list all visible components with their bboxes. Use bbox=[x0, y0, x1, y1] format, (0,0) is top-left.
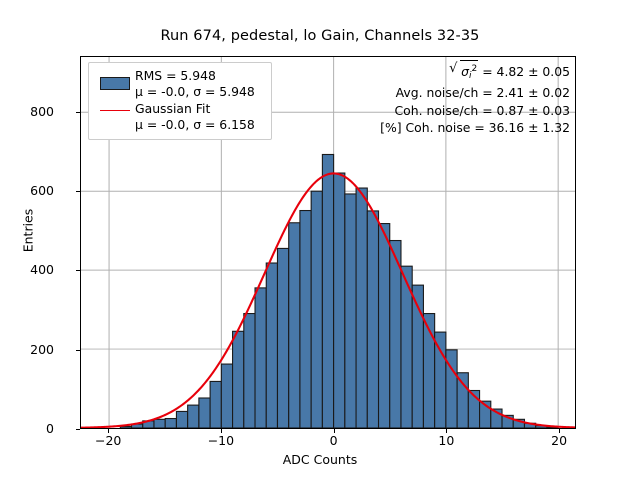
x-tick-mark bbox=[108, 429, 109, 433]
histogram-bar bbox=[154, 419, 165, 428]
page-title: Run 674, pedestal, lo Gain, Channels 32-… bbox=[0, 28, 640, 44]
legend-label-histogram: RMS = 5.948 μ = -0.0, σ = 5.948 bbox=[135, 68, 255, 99]
legend-swatch-histogram bbox=[95, 68, 135, 90]
legend-item-fit[interactable]: Gaussian Fit μ = -0.0, σ = 6.158 bbox=[95, 101, 265, 132]
x-tick-mark bbox=[221, 429, 222, 433]
histogram-bar bbox=[221, 364, 232, 428]
x-tick-label: 10 bbox=[416, 433, 476, 448]
legend-fit-line1: Gaussian Fit bbox=[135, 101, 255, 117]
x-tick-mark bbox=[559, 429, 560, 433]
histogram-bar bbox=[244, 314, 255, 428]
stats-annotation: √ σi2 = 4.82 ± 0.05 Avg. noise/ch = 2.41… bbox=[380, 60, 570, 137]
y-axis-label: Entries bbox=[21, 161, 36, 301]
radicand-sigma-i-squared: σi2 bbox=[460, 60, 478, 84]
y-tick-mark bbox=[76, 429, 80, 430]
histogram-bar bbox=[165, 419, 176, 428]
histogram-bar bbox=[379, 224, 390, 428]
legend-histogram-line2: μ = -0.0, σ = 5.948 bbox=[135, 84, 255, 100]
histogram-bar bbox=[188, 405, 199, 428]
histogram-bar bbox=[176, 411, 187, 428]
y-tick-mark bbox=[76, 270, 80, 271]
histogram-bar bbox=[390, 241, 401, 428]
y-tick-label: 200 bbox=[0, 342, 54, 357]
histogram-bar bbox=[322, 154, 333, 428]
histogram-bar bbox=[277, 248, 288, 428]
x-tick-mark bbox=[446, 429, 447, 433]
legend-label-fit: Gaussian Fit μ = -0.0, σ = 6.158 bbox=[135, 101, 255, 132]
annotation-line-avg-noise: Avg. noise/ch = 2.41 ± 0.02 bbox=[380, 84, 570, 102]
legend-histogram-line1: RMS = 5.948 bbox=[135, 68, 255, 84]
histogram-bar bbox=[300, 211, 311, 428]
chart-legend: RMS = 5.948 μ = -0.0, σ = 5.948 Gaussian… bbox=[88, 62, 272, 140]
histogram-bar bbox=[435, 332, 446, 428]
histogram-bar bbox=[289, 223, 300, 428]
y-tick-label: 400 bbox=[0, 262, 54, 277]
y-tick-mark bbox=[76, 350, 80, 351]
y-tick-label: 0 bbox=[0, 421, 54, 436]
x-tick-label: −10 bbox=[191, 433, 251, 448]
x-tick-label: 0 bbox=[304, 433, 364, 448]
legend-item-histogram[interactable]: RMS = 5.948 μ = -0.0, σ = 5.948 bbox=[95, 68, 265, 99]
x-axis-label: ADC Counts bbox=[0, 452, 640, 467]
y-tick-label: 800 bbox=[0, 104, 54, 119]
annotation-line-sqrt-sigma: √ σi2 = 4.82 ± 0.05 bbox=[380, 60, 570, 84]
histogram-bar bbox=[334, 173, 345, 428]
sqrt-icon: √ bbox=[449, 60, 457, 77]
y-tick-label: 600 bbox=[0, 183, 54, 198]
histogram-bars bbox=[120, 154, 558, 428]
legend-swatch-fit bbox=[95, 101, 135, 111]
legend-fit-line2: μ = -0.0, σ = 6.158 bbox=[135, 117, 255, 133]
histogram-bar bbox=[457, 373, 468, 428]
histogram-bar bbox=[210, 381, 221, 428]
histogram-bar bbox=[345, 194, 356, 428]
histogram-bar bbox=[233, 331, 244, 428]
y-tick-mark bbox=[76, 112, 80, 113]
histogram-bar bbox=[311, 191, 322, 428]
annotation-line-coh-noise: Coh. noise/ch = 0.87 ± 0.03 bbox=[380, 102, 570, 120]
y-tick-mark bbox=[76, 191, 80, 192]
histogram-bar bbox=[255, 288, 266, 428]
x-tick-label: 20 bbox=[529, 433, 589, 448]
annotation-sqrt-value: = 4.82 ± 0.05 bbox=[482, 64, 570, 79]
annotation-line-pct-coh-noise: [%] Coh. noise = 36.16 ± 1.32 bbox=[380, 119, 570, 137]
histogram-bar bbox=[199, 398, 210, 428]
x-tick-mark bbox=[334, 429, 335, 433]
histogram-bar bbox=[356, 188, 367, 428]
figure-canvas: Run 674, pedestal, lo Gain, Channels 32-… bbox=[0, 0, 640, 480]
histogram-bar bbox=[266, 263, 277, 428]
histogram-bar bbox=[367, 211, 378, 428]
x-tick-label: −20 bbox=[78, 433, 138, 448]
